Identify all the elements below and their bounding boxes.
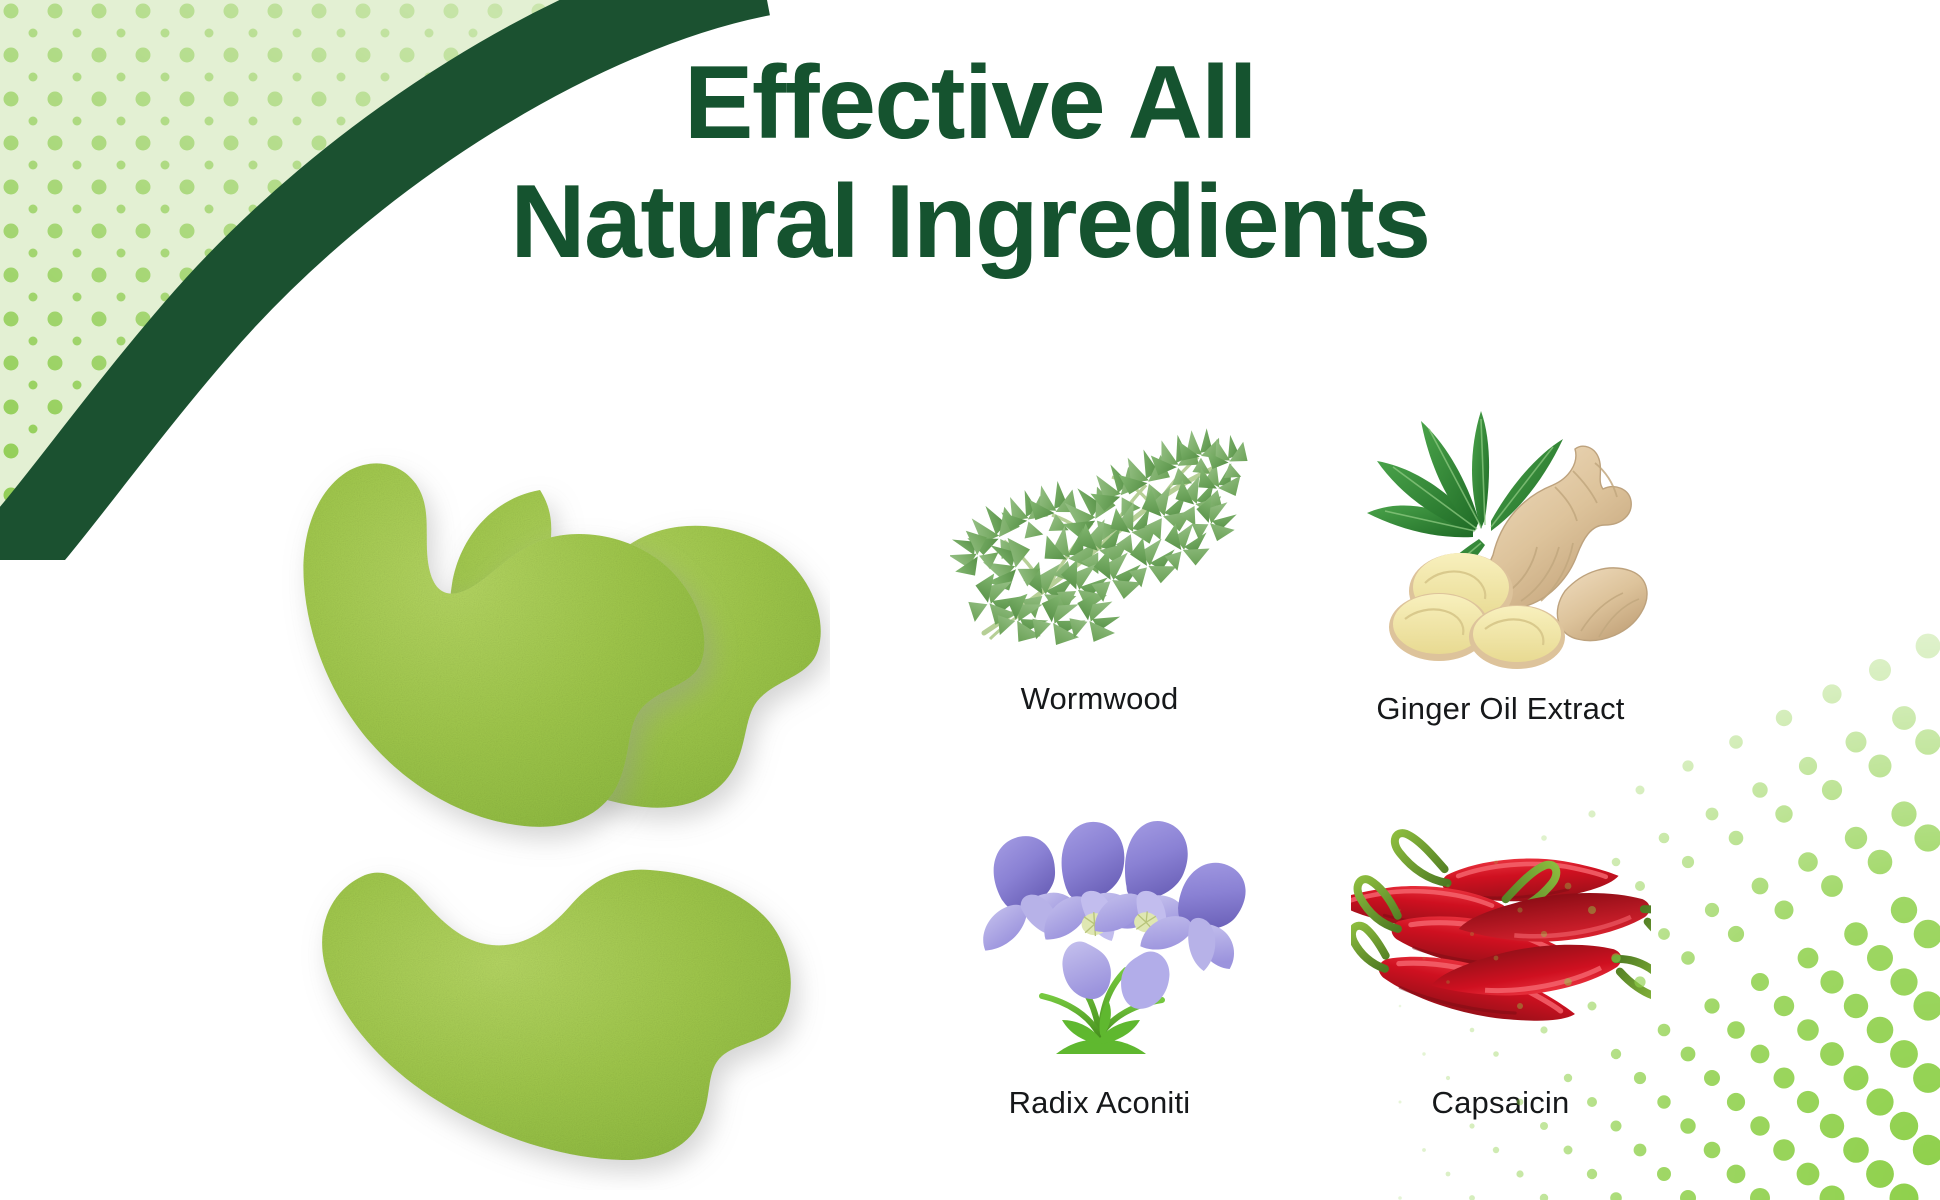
headline-line-2: Natural Ingredients: [0, 163, 1940, 282]
ingredient-label-wormwood: Wormwood: [1021, 681, 1179, 717]
infographic-canvas: Effective All Natural Ingredients: [0, 0, 1940, 1200]
ingredient-card-capsaicin: Capsaicin: [1321, 789, 1680, 1165]
headline-line-1: Effective All: [0, 44, 1940, 163]
ingredient-label-aconiti: Radix Aconiti: [1009, 1085, 1191, 1121]
headline: Effective All Natural Ingredients: [0, 44, 1940, 281]
wormwood-sprig-icon: [950, 395, 1250, 675]
ingredient-card-aconiti: Radix Aconiti: [920, 789, 1279, 1165]
product-image-knee-patches: [270, 370, 830, 1190]
ginger-root-icon: [1351, 395, 1651, 685]
ingredient-label-capsaicin: Capsaicin: [1432, 1085, 1570, 1121]
ingredient-card-wormwood: Wormwood: [920, 395, 1279, 771]
ingredient-label-ginger: Ginger Oil Extract: [1376, 691, 1624, 727]
ingredient-card-ginger: Ginger Oil Extract: [1321, 395, 1680, 771]
ingredients-grid: Wormwood: [920, 395, 1680, 1165]
aconite-flower-icon: [950, 789, 1250, 1069]
red-chili-peppers-icon: [1351, 789, 1651, 1069]
